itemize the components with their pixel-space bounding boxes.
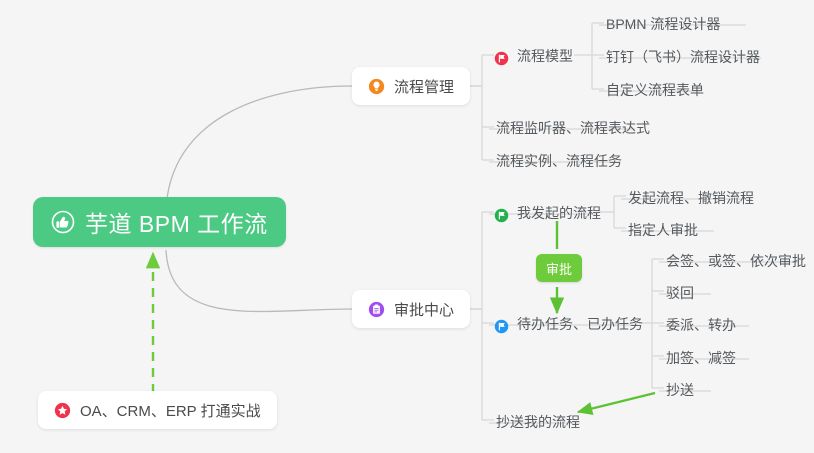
root-node-label: 芋道 BPM 工作流 [85, 205, 268, 239]
node-reject[interactable]: 驳回 [664, 277, 700, 307]
edge-root-to-approval-center [166, 250, 352, 311]
node-add-remove-sign-label: 加签、减签 [666, 348, 736, 368]
node-assign-approver[interactable]: 指定人审批 [626, 214, 704, 244]
node-my-initiated-label: 我发起的流程 [517, 203, 601, 223]
clipboard-icon [368, 301, 385, 318]
node-custom-process-form-label: 自定义流程表单 [606, 80, 704, 100]
star-icon [54, 402, 71, 419]
annotation-integration-note-label: OA、CRM、ERP 打通实战 [80, 400, 261, 421]
mindmap-canvas: 芋道 BPM 工作流 流程管理 流程模型 BPMN 流程设计器 钉钉（飞书）流程 [0, 0, 814, 453]
node-approval-center-label: 审批中心 [394, 299, 454, 320]
node-countersign-label: 会签、或签、依次审批 [666, 251, 806, 271]
root-node[interactable]: 芋道 BPM 工作流 [33, 197, 286, 247]
node-process-management-label: 流程管理 [394, 76, 454, 97]
node-instance-task-label: 流程实例、流程任务 [496, 151, 622, 171]
node-instance-task[interactable]: 流程实例、流程任务 [494, 145, 628, 175]
node-start-cancel[interactable]: 发起流程、撤销流程 [626, 182, 760, 212]
node-process-management[interactable]: 流程管理 [352, 67, 470, 105]
node-listener-expression[interactable]: 流程监听器、流程表达式 [494, 112, 656, 142]
node-start-cancel-label: 发起流程、撤销流程 [628, 188, 754, 208]
flag-icon [494, 208, 509, 223]
node-my-initiated[interactable]: 我发起的流程 [492, 197, 607, 227]
thumbs-up-icon [51, 210, 75, 234]
flag-icon [494, 51, 509, 66]
node-approval-center[interactable]: 审批中心 [352, 290, 470, 328]
node-todo-done[interactable]: 待办任务、已办任务 [492, 308, 649, 338]
node-assign-approver-label: 指定人审批 [628, 220, 698, 240]
annotation-approval-pill[interactable]: 审批 [536, 254, 582, 282]
node-dingtalk-feishu-designer[interactable]: 钉钉（飞书）流程设计器 [604, 41, 766, 71]
node-cc-to-me[interactable]: 抄送我的流程 [494, 406, 586, 436]
annotation-integration-note[interactable]: OA、CRM、ERP 打通实战 [38, 391, 277, 429]
flag-icon [494, 319, 509, 334]
node-reject-label: 驳回 [666, 283, 694, 303]
node-process-model-label: 流程模型 [517, 46, 573, 66]
node-process-model[interactable]: 流程模型 [492, 40, 579, 70]
node-todo-done-label: 待办任务、已办任务 [517, 314, 643, 334]
node-cc-to-me-label: 抄送我的流程 [496, 412, 580, 432]
node-cc[interactable]: 抄送 [664, 374, 700, 404]
node-delegate-transfer-label: 委派、转办 [666, 315, 736, 335]
node-custom-process-form[interactable]: 自定义流程表单 [604, 74, 710, 104]
node-add-remove-sign[interactable]: 加签、减签 [664, 342, 742, 372]
node-bpmn-designer-label: BPMN 流程设计器 [606, 14, 720, 34]
edge-root-to-process-management [166, 86, 352, 210]
node-dingtalk-feishu-designer-label: 钉钉（飞书）流程设计器 [606, 47, 760, 67]
node-listener-expression-label: 流程监听器、流程表达式 [496, 118, 650, 138]
node-delegate-transfer[interactable]: 委派、转办 [664, 309, 742, 339]
node-cc-label: 抄送 [666, 380, 694, 400]
node-bpmn-designer[interactable]: BPMN 流程设计器 [604, 8, 726, 38]
node-countersign[interactable]: 会签、或签、依次审批 [664, 245, 812, 275]
lightbulb-pin-icon [368, 78, 385, 95]
annotation-approval-pill-label: 审批 [546, 259, 572, 278]
arrow-cc-to-my-flow [578, 393, 655, 412]
